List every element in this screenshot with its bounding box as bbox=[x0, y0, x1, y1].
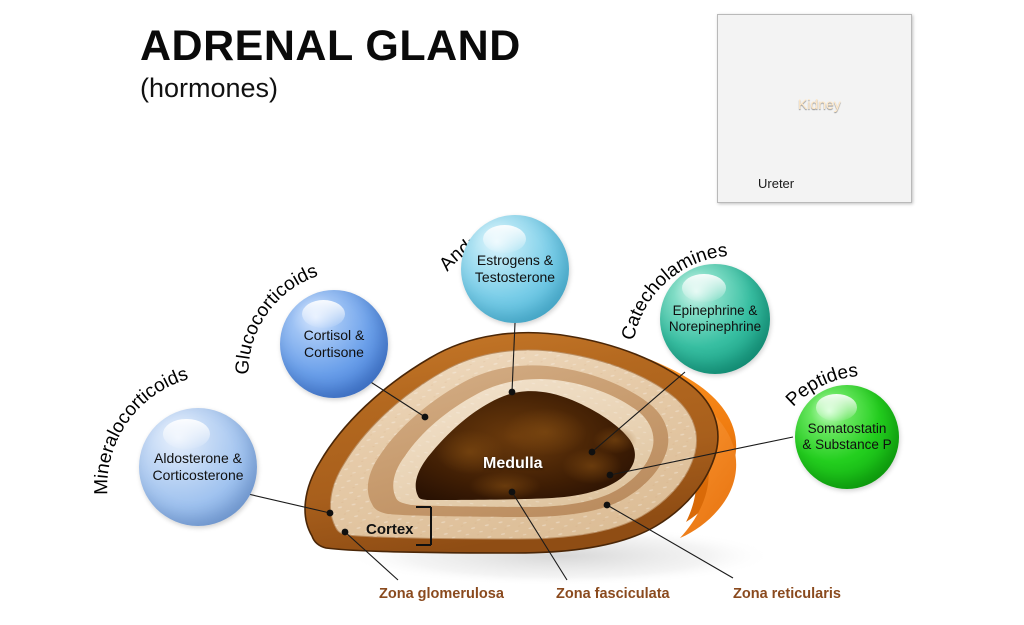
page-title-block: ADRENAL GLAND (hormones) bbox=[140, 24, 521, 104]
bubble-text-catecholamines: Epinephrine & Norepinephrine bbox=[663, 303, 767, 335]
bubble-line2-glucocorticoids: Cortisone bbox=[304, 344, 364, 360]
inset-kidney-label: Kidney bbox=[798, 96, 841, 112]
bubble-gloss-catecholamines bbox=[682, 274, 726, 303]
page-title: ADRENAL GLAND bbox=[140, 24, 521, 69]
bubble-line2-mineralocorticoids: Corticosterone bbox=[152, 467, 243, 483]
bubble-line1-peptides: Somatostatin bbox=[808, 421, 887, 436]
zona-glomerulosa-label: Zona glomerulosa bbox=[379, 586, 504, 602]
inset-ureter-label: Ureter bbox=[758, 176, 794, 191]
zona-fasciculata-label: Zona fasciculata bbox=[556, 586, 670, 602]
bubble-line2-catecholamines: Norepinephrine bbox=[669, 319, 761, 334]
zona-reticularis-label: Zona reticularis bbox=[733, 586, 841, 602]
diagram-stage: Mineralocorticoids Glucocorticoids Andro… bbox=[0, 0, 1024, 625]
bubble-line1-glucocorticoids: Cortisol & bbox=[304, 327, 365, 343]
bubble-line2-peptides: & Substance P bbox=[802, 437, 891, 452]
bubble-glucocorticoids[interactable]: Cortisol & Cortisone bbox=[280, 290, 388, 398]
bubble-text-peptides: Somatostatin & Substance P bbox=[796, 421, 897, 453]
bubble-gloss-peptides bbox=[816, 394, 858, 421]
bubble-text-glucocorticoids: Cortisol & Cortisone bbox=[298, 327, 371, 360]
cortex-label: Cortex bbox=[366, 521, 414, 538]
bubble-line2-androgens: Testosterone bbox=[475, 269, 555, 285]
bubble-catecholamines[interactable]: Epinephrine & Norepinephrine bbox=[660, 264, 770, 374]
bubble-androgens[interactable]: Estrogens & Testosterone bbox=[461, 215, 569, 323]
bubble-mineralocorticoids[interactable]: Aldosterone & Corticosterone bbox=[139, 408, 257, 526]
medulla-label: Medulla bbox=[483, 455, 543, 473]
bubble-gloss-androgens bbox=[483, 225, 526, 253]
bubble-text-mineralocorticoids: Aldosterone & Corticosterone bbox=[146, 450, 249, 483]
bubble-line1-mineralocorticoids: Aldosterone & bbox=[154, 450, 242, 466]
bubble-peptides[interactable]: Somatostatin & Substance P bbox=[795, 385, 899, 489]
bubble-line1-catecholamines: Epinephrine & bbox=[673, 303, 758, 318]
page-subtitle: (hormones) bbox=[140, 73, 521, 104]
bubble-text-androgens: Estrogens & Testosterone bbox=[469, 252, 561, 285]
bubble-gloss-mineralocorticoids bbox=[163, 419, 210, 450]
bubble-gloss-glucocorticoids bbox=[302, 300, 345, 328]
bubble-line1-androgens: Estrogens & bbox=[477, 252, 553, 268]
